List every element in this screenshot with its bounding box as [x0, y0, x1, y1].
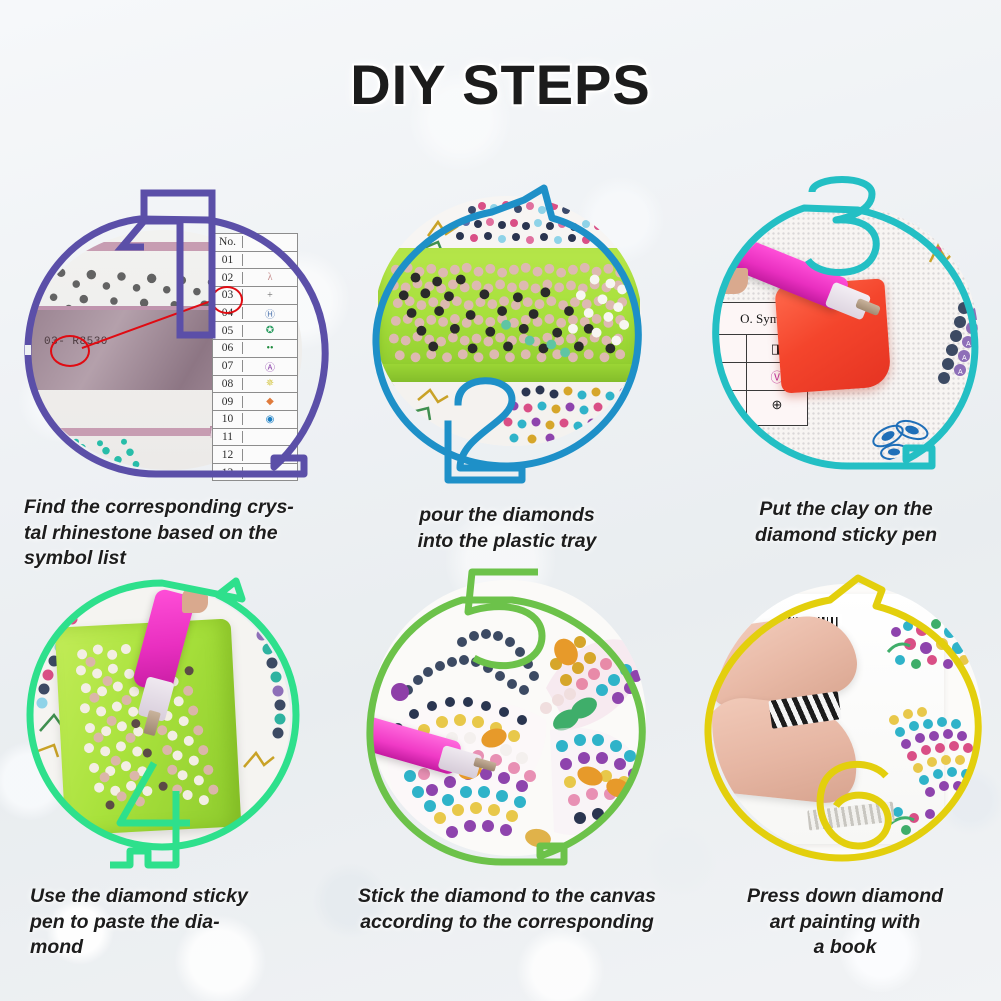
- step-4-caption: Use the diamond sticky pen to paste the …: [30, 884, 330, 961]
- step-6-caption: Press down diamond art painting with a b…: [700, 884, 990, 961]
- step-3-caption: Put the clay on the diamond sticky pen: [710, 497, 982, 548]
- step-5-outline: [352, 562, 662, 877]
- diy-steps-poster: DIY STEPS: [0, 0, 1001, 1001]
- step-5-caption: Stick the diamond to the canvas accordin…: [332, 884, 682, 935]
- step-1-caption: Find the corresponding crys- tal rhinest…: [24, 495, 334, 572]
- step-3-outline: [700, 172, 990, 482]
- step-panel-6: [690, 562, 1000, 877]
- step-panel-2: [362, 178, 652, 488]
- step-panel-3: O. Sym ◨ Ⓥ ⊕: [700, 172, 990, 482]
- step-2-outline: [362, 178, 652, 488]
- step-panel-1: 03- R8530 No.: [12, 175, 342, 485]
- step-4-outline: [14, 565, 314, 875]
- step-panel-4: [14, 565, 314, 875]
- step-6-outline: [690, 562, 1000, 877]
- step-panel-5: [352, 562, 662, 877]
- step-2-caption: pour the diamonds into the plastic tray: [372, 503, 642, 554]
- step-1-outline: [12, 175, 342, 485]
- page-title: DIY STEPS: [0, 52, 1001, 117]
